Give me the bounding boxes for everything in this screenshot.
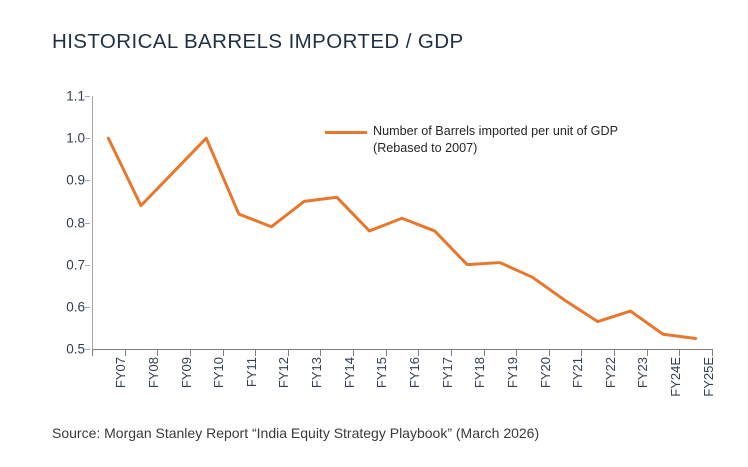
x-axis-tick-label: FY24E — [668, 357, 683, 397]
x-axis-tick-label: FY20 — [538, 357, 553, 388]
x-axis-tick-label: FY14 — [342, 357, 357, 388]
x-axis-tick — [516, 350, 517, 356]
x-axis-tick-label: FY15 — [374, 357, 389, 388]
source-note: Source: Morgan Stanley Report “India Equ… — [52, 425, 539, 441]
y-axis-tick-label: 1.0 — [66, 131, 85, 146]
x-axis-tick-label: FY13 — [309, 357, 324, 388]
y-axis-tick-label: 0.8 — [66, 215, 85, 230]
x-axis-tick — [581, 350, 582, 356]
y-axis-tick-label: 0.7 — [66, 257, 85, 272]
y-axis-tick — [85, 307, 90, 308]
y-axis-tick — [85, 138, 90, 139]
x-axis-tick — [386, 350, 387, 356]
x-axis-tick — [125, 350, 126, 356]
x-axis-tick-label: FY21 — [570, 357, 585, 388]
y-axis-labels: 1.11.00.90.80.70.60.5 — [52, 96, 85, 349]
x-axis-tick — [255, 350, 256, 356]
x-axis-tick — [418, 350, 419, 356]
x-axis-tick — [614, 350, 615, 356]
y-axis-tick-label: 1.1 — [66, 89, 85, 104]
y-axis-tick — [85, 349, 90, 350]
y-axis-tick-label: 0.6 — [66, 299, 85, 314]
x-axis-tick-label: FY09 — [179, 357, 194, 388]
x-axis-tick-label: FY19 — [505, 357, 520, 388]
legend: Number of Barrels imported per unit of G… — [325, 123, 705, 157]
y-axis-tick — [85, 223, 90, 224]
y-axis-tick — [85, 180, 90, 181]
y-axis-tick — [85, 96, 90, 97]
x-axis-tick — [92, 350, 93, 356]
x-axis-tick-label: FY25E — [701, 357, 716, 397]
series-polyline — [108, 138, 695, 338]
x-axis-ticks — [92, 350, 713, 356]
x-axis-tick-label: FY18 — [472, 357, 487, 388]
x-axis-labels: FY07FY08FY09FY10FY11FY12FY13FY14FY15FY16… — [92, 357, 713, 409]
chart-page: HISTORICAL BARRELS IMPORTED / GDP 1.11.0… — [0, 0, 748, 467]
x-axis-tick-label: FY16 — [407, 357, 422, 388]
x-axis-tick-label: FY10 — [211, 357, 226, 388]
x-axis-tick — [451, 350, 452, 356]
x-axis-tick — [484, 350, 485, 356]
legend-line-swatch-icon — [325, 131, 367, 134]
x-axis-tick — [320, 350, 321, 356]
x-axis-tick-label: FY07 — [113, 357, 128, 388]
x-axis-tick — [353, 350, 354, 356]
y-axis-tick-label: 0.5 — [66, 342, 85, 357]
x-axis-tick — [157, 350, 158, 356]
legend-item: Number of Barrels imported per unit of G… — [325, 123, 705, 157]
x-axis-tick-label: FY11 — [244, 357, 259, 387]
x-axis-tick — [190, 350, 191, 356]
legend-label-line-2: (Rebased to 2007) — [373, 140, 618, 157]
x-axis-tick-label: FY22 — [603, 357, 618, 388]
page-title: HISTORICAL BARRELS IMPORTED / GDP — [52, 30, 464, 54]
x-axis-tick — [712, 350, 713, 356]
x-axis-tick — [549, 350, 550, 356]
legend-label: Number of Barrels imported per unit of G… — [373, 123, 618, 157]
x-axis-tick-label: FY12 — [276, 357, 291, 388]
y-axis-tick-label: 0.9 — [66, 173, 85, 188]
x-axis-tick — [679, 350, 680, 356]
y-axis-tick — [85, 265, 90, 266]
x-axis-tick — [288, 350, 289, 356]
x-axis-tick-label: FY08 — [146, 357, 161, 388]
x-axis-tick — [647, 350, 648, 356]
x-axis-tick-label: FY17 — [440, 357, 455, 388]
legend-label-line-1: Number of Barrels imported per unit of G… — [373, 123, 618, 140]
x-axis-tick — [223, 350, 224, 356]
x-axis-tick-label: FY23 — [635, 357, 650, 388]
